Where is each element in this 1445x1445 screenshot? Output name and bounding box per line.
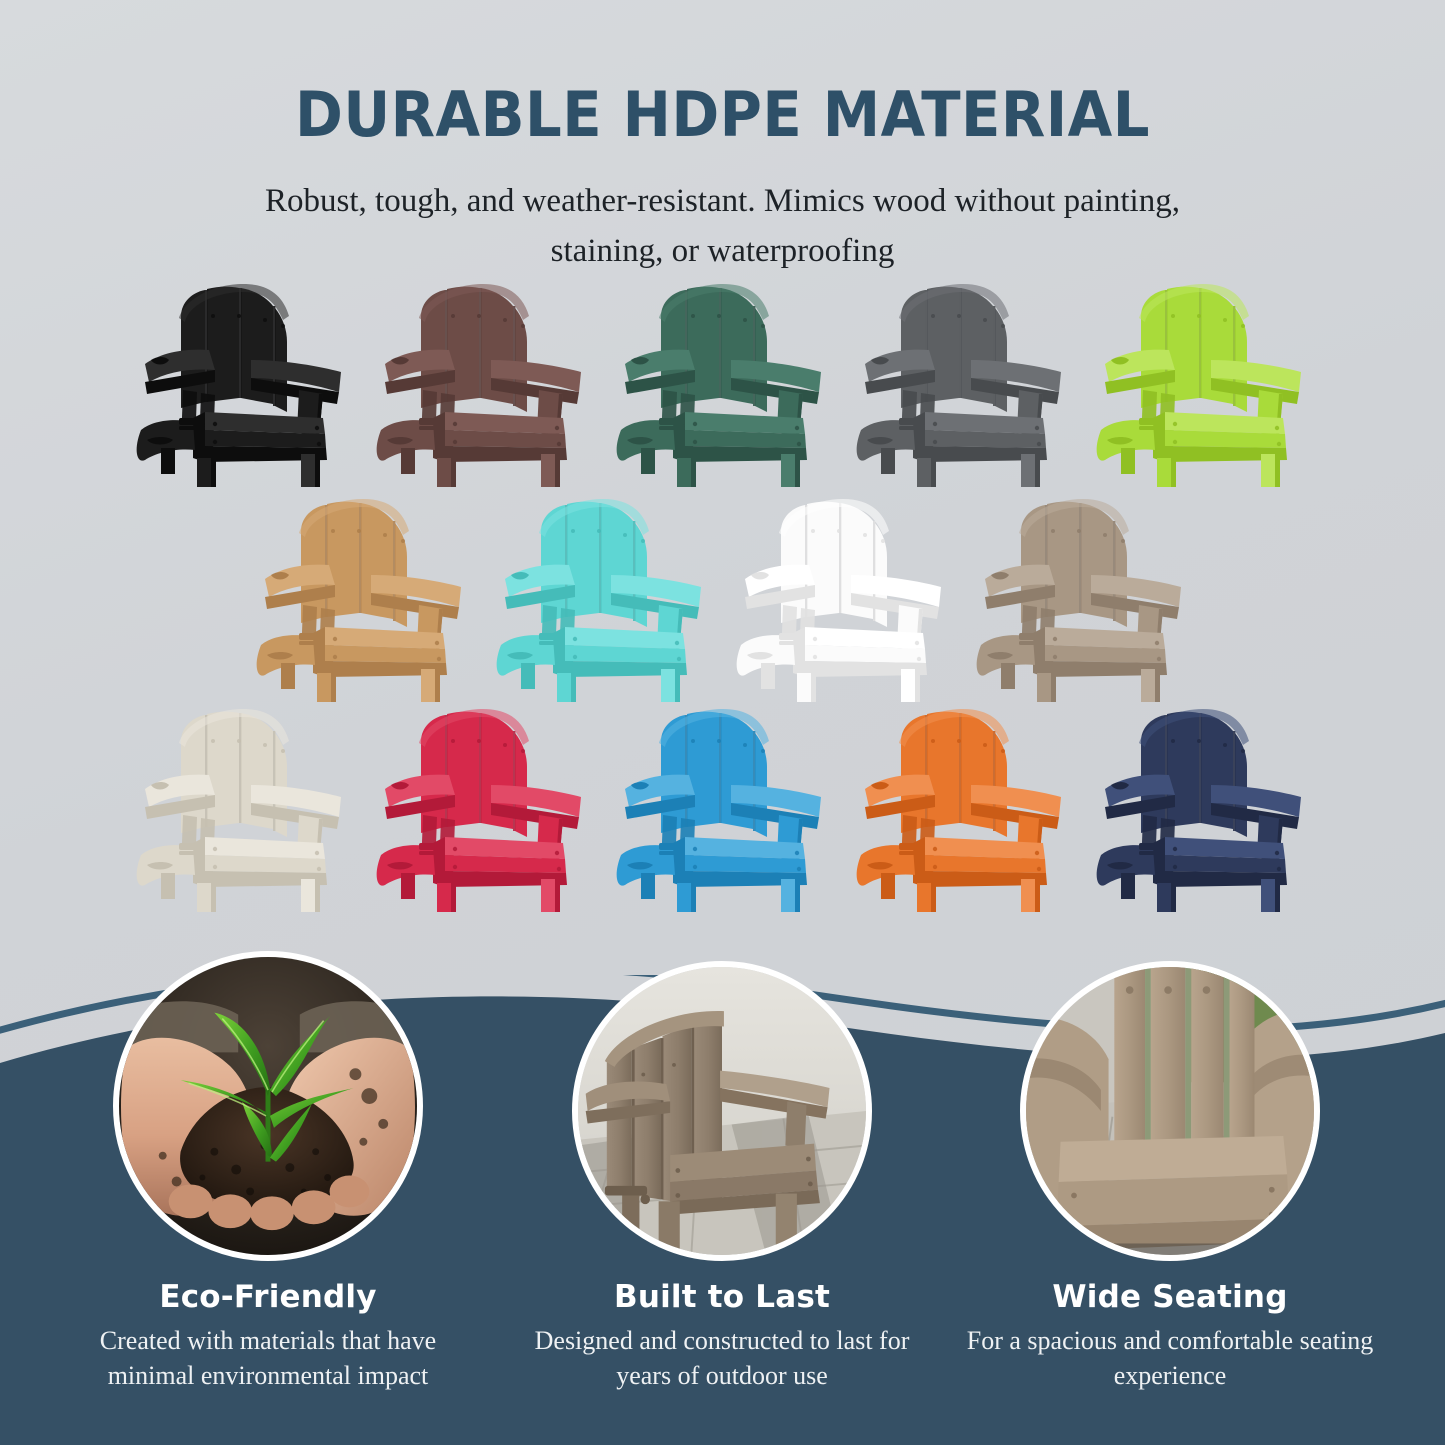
ivory-chair[interactable] [123,697,363,912]
weathered-wood-chair-on-patio-photo [578,967,866,1255]
lime-green-chair[interactable] [1083,272,1323,487]
dark-green-chair-image [603,272,843,487]
dark-green-chair[interactable] [603,272,843,487]
black-chair[interactable] [123,272,363,487]
white-chair[interactable] [723,487,963,702]
blue-chair-image [603,697,843,912]
feature-description: Designed and constructed to last for yea… [512,1324,932,1393]
feature-built-to-last: Built to Last Designed and constructed t… [512,961,932,1393]
black-chair-image [123,272,363,487]
feature-list: Eco-Friendly Created with materials that… [0,885,1445,1445]
teak-chair-image [243,487,483,702]
brown-chair-image [363,272,603,487]
turquoise-chair[interactable] [483,487,723,702]
infographic-canvas: DURABLE HDPE MATERIAL Robust, tough, and… [0,0,1445,1445]
feature-description: Created with materials that have minimal… [58,1324,478,1393]
built-to-last-image [572,961,872,1261]
navy-chair-image [1083,697,1323,912]
chair-row-3 [0,697,1445,912]
feature-description: For a spacious and comfortable seating e… [960,1324,1380,1393]
gray-chair[interactable] [843,272,1083,487]
white-chair-image [723,487,963,702]
feature-wide-seating: Wide Seating For a spacious and comforta… [960,961,1380,1393]
weathered-wood-chair[interactable] [963,487,1203,702]
blue-chair[interactable] [603,697,843,912]
lime-green-chair-image [1083,272,1323,487]
feature-title: Built to Last [512,1279,932,1315]
page-title: DURABLE HDPE MATERIAL [51,78,1395,151]
chair-seat-closeup-photo [1026,967,1314,1255]
brown-chair[interactable] [363,272,603,487]
eco-friendly-image [113,951,423,1261]
ivory-chair-image [123,697,363,912]
hands-holding-seedling-in-soil-photo [119,957,417,1255]
turquoise-chair-image [483,487,723,702]
chair-row-1 [0,272,1445,487]
navy-chair[interactable] [1083,697,1323,912]
orange-chair-image [843,697,1083,912]
header: DURABLE HDPE MATERIAL Robust, tough, and… [0,0,1445,276]
red-chair-image [363,697,603,912]
teak-chair[interactable] [243,487,483,702]
page-subtitle: Robust, tough, and weather-resistant. Mi… [228,177,1218,276]
feature-eco-friendly: Eco-Friendly Created with materials that… [58,951,478,1393]
orange-chair[interactable] [843,697,1083,912]
weathered-wood-chair-image [963,487,1203,702]
red-chair[interactable] [363,697,603,912]
gray-chair-image [843,272,1083,487]
feature-title: Wide Seating [960,1279,1380,1315]
chair-row-2 [0,487,1445,702]
wide-seating-image [1020,961,1320,1261]
feature-title: Eco-Friendly [58,1279,478,1315]
